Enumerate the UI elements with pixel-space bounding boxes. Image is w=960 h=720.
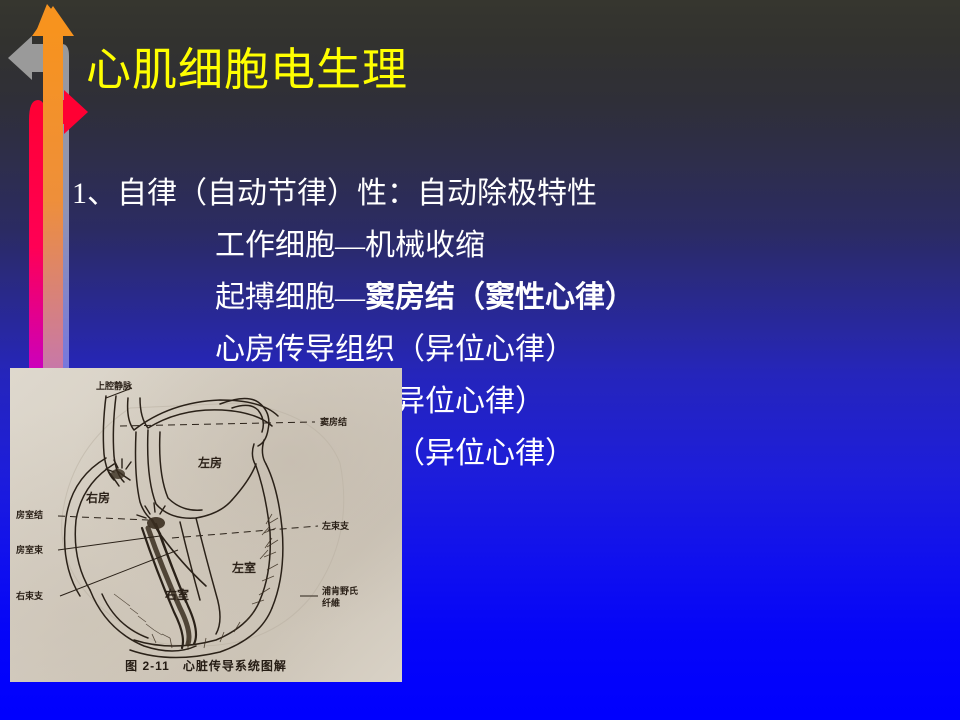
av-node-marker: [147, 517, 165, 529]
figure-label-right-ventricle: 右室: [165, 590, 189, 601]
figure-label-av-bundle: 房室束: [16, 545, 43, 556]
slide-canvas: 心肌细胞电生理 1、自律（自动节律）性：自动除极特性 工作细胞—机械收缩 起搏细…: [0, 0, 960, 720]
figure-label-purkinje-fibers-line2: 纤維: [322, 598, 340, 609]
sa-node-marker: [111, 469, 125, 479]
bullet-line-2: 工作细胞—机械收缩: [0, 220, 960, 272]
figure-label-right-bundle-branch: 右束支: [16, 591, 43, 602]
bullet-line-3: 起搏细胞—窦房结（窦性心律）: [0, 272, 960, 324]
heart-conduction-diagram: 上腔静脉 窦房结 左房 右房 房室结 左束支 房室束 左室 浦肯野氏 纤維 右束…: [10, 368, 402, 682]
page-title: 心肌细胞电生理: [86, 48, 408, 93]
figure-label-purkinje-fibers: 浦肯野氏: [322, 586, 358, 597]
figure-label-left-bundle-branch: 左束支: [322, 521, 349, 532]
figure-label-superior-vena-cava: 上腔静脉: [96, 381, 132, 392]
figure-label-right-atrium: 右房: [86, 493, 110, 504]
figure-label-av-node: 房室结: [16, 510, 43, 521]
bullet-line-1: 1、自律（自动节律）性：自动除极特性: [0, 168, 960, 220]
bullet-line-1-text: 1、自律（自动节律）性：自动除极特性: [72, 177, 597, 210]
bullet-line-3-text: 起搏细胞—: [215, 281, 365, 314]
figure-caption: 图 2-11 心脏传导系统图解: [10, 657, 402, 674]
bullet-line-2-text: 工作细胞—机械收缩: [215, 229, 485, 262]
figure-label-left-ventricle: 左室: [232, 563, 256, 574]
figure-label-sinoatrial-node: 窦房结: [320, 417, 347, 428]
figure-label-left-atrium: 左房: [198, 458, 222, 469]
bullet-line-4-text: 心房传导组织（异位心律）: [215, 333, 575, 366]
bullet-line-3-emphasis: 窦房结（窦性心律）: [365, 281, 635, 314]
right-ventricle-trabeculae: [114, 594, 170, 638]
